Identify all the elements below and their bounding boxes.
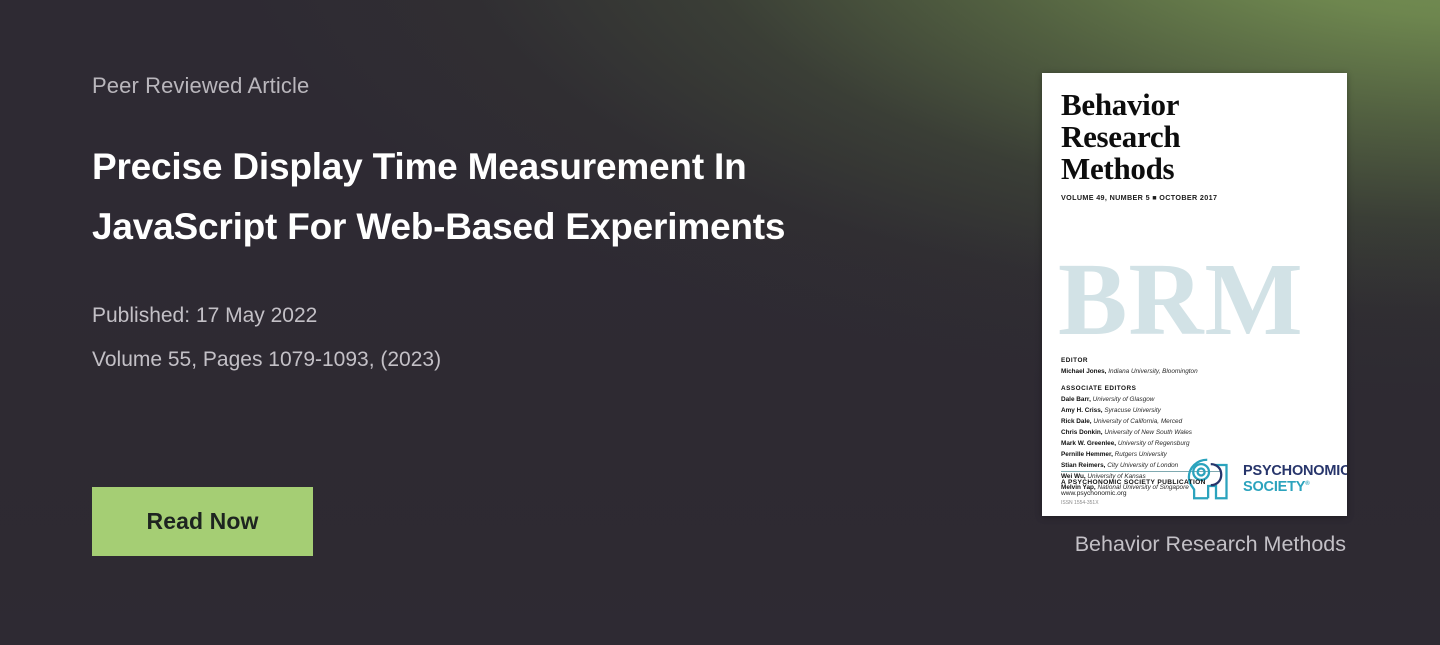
- editor-heading: EDITOR: [1061, 357, 1276, 364]
- cover-masthead-line-1: Behavior: [1061, 89, 1328, 121]
- registered-trademark-icon: ®: [1305, 481, 1309, 487]
- cover-brm-watermark: BRM: [1058, 248, 1347, 352]
- society-name-text: SOCIETY: [1243, 479, 1305, 495]
- associate-editor-affiliation: University of Regensburg: [1118, 440, 1190, 447]
- page-title: Precise Display Time Measurement In Java…: [92, 137, 892, 257]
- associate-editor-name: Mark W. Greenlee,: [1061, 440, 1116, 447]
- page-title-line-2: JavaScript For Web-Based Experiments: [92, 206, 785, 247]
- associate-editor-affiliation: University of New South Wales: [1104, 429, 1192, 436]
- editor-name: Michael Jones,: [1061, 368, 1106, 375]
- imprint-issn: ISSN 1554-351X: [1061, 500, 1206, 506]
- article-type-label: Peer Reviewed Article: [92, 73, 912, 99]
- society-name-line-2: SOCIETY®: [1243, 480, 1347, 495]
- associate-editor-affiliation: University of Glasgow: [1093, 396, 1155, 403]
- editor-entry: Michael Jones, Indiana University, Bloom…: [1061, 366, 1276, 377]
- associate-editor-affiliation: Rutgers University: [1115, 451, 1167, 458]
- associate-editor-name: Rick Dale,: [1061, 418, 1092, 425]
- imprint-website: www.psychonomic.org: [1061, 490, 1206, 497]
- editor-affiliation: Indiana University, Bloomington: [1108, 368, 1197, 375]
- associate-editor-entry: Dale Barr, University of Glasgow: [1061, 394, 1276, 405]
- associate-editor-name: Chris Donkin,: [1061, 429, 1103, 436]
- associate-editor-name: Dale Barr,: [1061, 396, 1091, 403]
- page-title-line-1: Precise Display Time Measurement In: [92, 146, 747, 187]
- associate-editor-affiliation: City University of London: [1107, 462, 1178, 469]
- volume-pages: Volume 55, Pages 1079-1093, (2023): [92, 349, 912, 370]
- article-metadata: Published: 17 May 2022 Volume 55, Pages …: [92, 305, 912, 370]
- associate-editor-affiliation: University of California, Merced: [1093, 418, 1182, 425]
- society-name-line-1: PSYCHONOMIC: [1243, 464, 1347, 479]
- associate-editor-entry: Amy H. Criss, Syracuse University: [1061, 405, 1276, 416]
- journal-cover-image[interactable]: Behavior Research Methods VOLUME 49, NUM…: [1042, 73, 1347, 516]
- article-promo-banner: Peer Reviewed Article Precise Display Ti…: [0, 0, 1440, 645]
- cover-masthead-line-3: Methods: [1061, 153, 1328, 185]
- cover-volume-line: VOLUME 49, NUMBER 5 ■ OCTOBER 2017: [1061, 193, 1328, 202]
- read-now-button[interactable]: Read Now: [92, 487, 313, 556]
- journal-name-caption: Behavior Research Methods: [1042, 533, 1347, 557]
- associate-editor-entry: Mark W. Greenlee, University of Regensbu…: [1061, 438, 1276, 449]
- associate-editor-name: Stian Reimers,: [1061, 462, 1105, 469]
- published-date: Published: 17 May 2022: [92, 305, 912, 326]
- article-text-column: Peer Reviewed Article Precise Display Ti…: [92, 73, 912, 370]
- associate-editors-heading: ASSOCIATE EDITORS: [1061, 385, 1276, 392]
- associate-editor-entry: Chris Donkin, University of New South Wa…: [1061, 427, 1276, 438]
- associate-editor-name: Amy H. Criss,: [1061, 407, 1103, 414]
- journal-cover-column: Behavior Research Methods VOLUME 49, NUM…: [1042, 73, 1347, 557]
- cover-masthead: Behavior Research Methods: [1061, 89, 1328, 186]
- cover-masthead-line-2: Research: [1061, 121, 1328, 153]
- imprint-publisher: A PSYCHONOMIC SOCIETY PUBLICATION: [1061, 479, 1206, 486]
- cover-imprint: A PSYCHONOMIC SOCIETY PUBLICATION www.ps…: [1061, 479, 1206, 506]
- associate-editor-affiliation: Syracuse University: [1104, 407, 1160, 414]
- associate-editor-entry: Rick Dale, University of California, Mer…: [1061, 416, 1276, 427]
- associate-editor-name: Pernille Hemmer,: [1061, 451, 1113, 458]
- psychonomic-society-logo: PSYCHONOMIC SOCIETY®: [1181, 451, 1347, 507]
